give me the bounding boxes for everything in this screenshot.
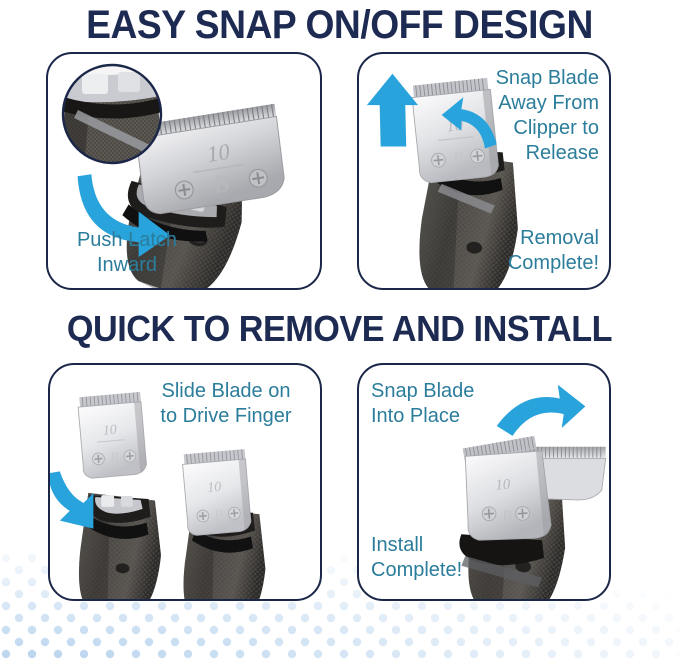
panel-snap-blade-away: 10 B Snap Blade Away From Clipper to Rel… [357, 52, 611, 290]
caption-snap-blade-into-place: Snap Blade Into Place [371, 379, 501, 429]
caption-install-complete: Install Complete! [371, 533, 511, 583]
caption-push-latch-inward: Push Latch Inward [56, 228, 198, 278]
infographic-root: EASY SNAP ON/OFF DESIGN [0, 0, 679, 662]
caption-snap-blade-away: Snap Blade Away From Clipper to Release [463, 66, 599, 166]
panel-slide-blade-on: 10 B [48, 363, 322, 601]
caption-removal-complete: Removal Complete! [463, 226, 599, 276]
page-title-secondary: QUICK TO REMOVE AND INSTALL [17, 308, 662, 350]
caption-slide-blade-on: Slide Blade on to Drive Finger [146, 379, 306, 429]
page-title-primary: EASY SNAP ON/OFF DESIGN [24, 2, 655, 48]
arrow-up-icon [367, 74, 418, 147]
panel-push-latch-inward: 10 B [46, 52, 322, 290]
panel-snap-blade-into-place: 10 B Snap Blade Into Place Install Compl… [357, 363, 611, 601]
